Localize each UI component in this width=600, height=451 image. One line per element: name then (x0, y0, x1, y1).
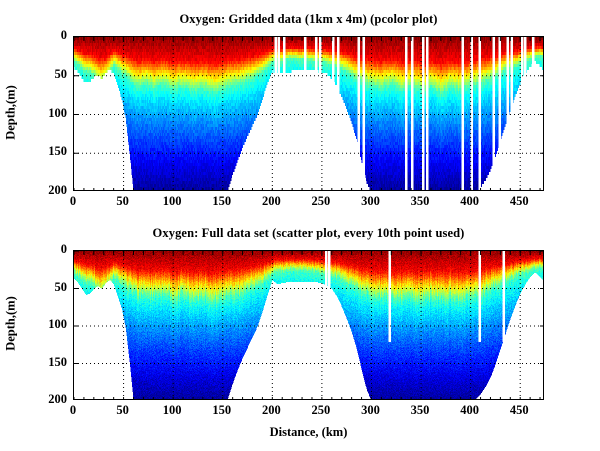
x-tick-label: 0 (48, 194, 98, 209)
x-tick-label: 200 (246, 194, 296, 209)
panel-title-scatter: Oxygen: Full data set (scatter plot, eve… (73, 226, 544, 241)
x-tick-label: 50 (98, 403, 148, 418)
y-axis-label-gridded: Depth,(m) (4, 52, 19, 172)
x-tick-label: 0 (48, 403, 98, 418)
section-heatmap-gridded (74, 37, 544, 191)
x-tick-label: 250 (296, 403, 346, 418)
y-tick-label: 50 (27, 280, 67, 295)
x-tick-label: 350 (395, 403, 445, 418)
y-tick-label: 100 (27, 106, 67, 121)
x-tick-label: 350 (395, 194, 445, 209)
y-tick-label: 100 (27, 317, 67, 332)
x-tick-label: 400 (445, 194, 495, 209)
y-tick-label: 0 (27, 28, 67, 43)
y-axis-label-scatter: Depth,(m) (4, 264, 19, 384)
x-tick-label: 100 (147, 194, 197, 209)
y-tick-label: 150 (27, 144, 67, 159)
x-tick-label: 50 (98, 194, 148, 209)
axes-gridded (73, 36, 544, 191)
figure-canvas: Oxygen: Gridded data (1km x 4m) (pcolor … (0, 0, 600, 451)
x-tick-label: 450 (494, 403, 544, 418)
x-tick-label: 450 (494, 194, 544, 209)
x-axis-label-distance: Distance, (km) (73, 425, 544, 440)
x-tick-label: 200 (246, 403, 296, 418)
x-tick-label: 250 (296, 194, 346, 209)
y-tick-label: 50 (27, 67, 67, 82)
x-tick-label: 150 (197, 403, 247, 418)
axes-scatter (73, 250, 544, 400)
x-tick-label: 400 (445, 403, 495, 418)
y-tick-label: 150 (27, 355, 67, 370)
panel-title-gridded: Oxygen: Gridded data (1km x 4m) (pcolor … (73, 12, 544, 27)
section-scatter-full (74, 251, 544, 400)
x-tick-label: 300 (345, 403, 395, 418)
x-tick-label: 100 (147, 403, 197, 418)
x-tick-label: 300 (345, 194, 395, 209)
y-tick-label: 0 (27, 242, 67, 257)
x-tick-label: 150 (197, 194, 247, 209)
